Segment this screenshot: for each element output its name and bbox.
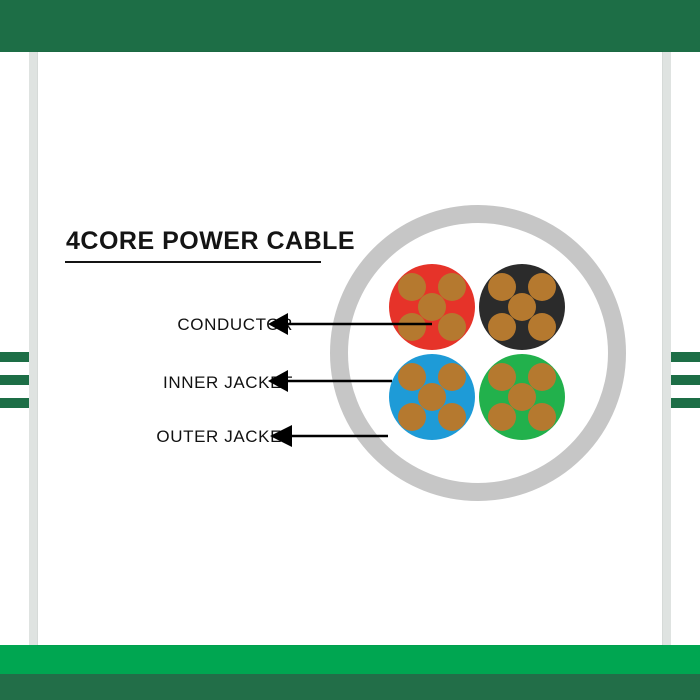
label-inner-jacket: INNER JACKET bbox=[93, 373, 293, 393]
right-card-shadow bbox=[662, 52, 671, 645]
poster-canvas: 4CORE POWER CABLE CONDUCTOR INNER JACKET… bbox=[0, 0, 700, 700]
label-outer-jacket: OUTER JACKET bbox=[93, 427, 293, 447]
left-card-shadow bbox=[29, 52, 38, 645]
title-underline bbox=[65, 261, 321, 263]
page-title: 4CORE POWER CABLE bbox=[66, 227, 355, 256]
label-conductor: CONDUCTOR bbox=[93, 315, 293, 335]
content-card: 4CORE POWER CABLE CONDUCTOR INNER JACKET… bbox=[38, 52, 662, 645]
poster-footer-band bbox=[0, 674, 700, 700]
